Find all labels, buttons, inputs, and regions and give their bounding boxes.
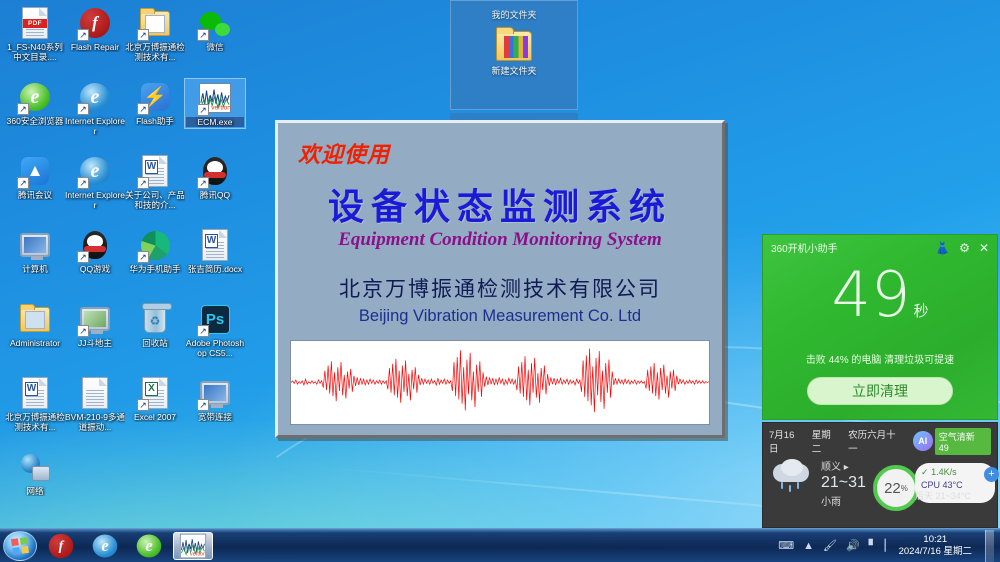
taskbar-item-flash-repair[interactable]: f bbox=[41, 532, 81, 560]
shortcut-arrow-icon bbox=[197, 177, 209, 189]
doc-art bbox=[82, 377, 108, 409]
bin-icon bbox=[138, 302, 172, 336]
boot-time-unit: 秒 bbox=[913, 302, 928, 320]
desktop-icon-11[interactable]: W关于公司、产品和技的介... bbox=[124, 152, 186, 211]
gear-icon[interactable]: ⚙ bbox=[959, 242, 970, 254]
desktop-icon-label: 张吉简历.docx bbox=[185, 264, 245, 274]
network-speed: ✓ 1.4K/s bbox=[921, 467, 989, 478]
weather-system-widget[interactable]: 7月16日 星期二 农历六月十一 AI 空气清新 49 顺义 ▸ 21~31 小… bbox=[762, 422, 998, 528]
flash-icon: f bbox=[78, 6, 112, 40]
user-folder-icon bbox=[18, 302, 52, 336]
weather-lunar: 农历六月十一 bbox=[848, 427, 905, 455]
app-title-english: Equipment Condition Monitoring System bbox=[278, 229, 722, 251]
desktop-icon-label: Administrator bbox=[5, 338, 65, 348]
weather-body: 顺义 ▸ 21~31 小雨 22% ✓ 1.4K/s CPU 43°C + ☼ … bbox=[763, 455, 997, 508]
shortcut-arrow-icon bbox=[137, 177, 149, 189]
word-icon: W bbox=[18, 376, 52, 410]
network-icon bbox=[18, 450, 52, 484]
widget-360-header: 360开机小助手 👗 ⚙ ✕ bbox=[763, 235, 997, 255]
desktop-icon-12[interactable]: 腾讯QQ bbox=[184, 152, 246, 201]
shortcut-arrow-icon bbox=[77, 177, 89, 189]
desktop-icon-9[interactable]: ▲腾讯会议 bbox=[4, 152, 66, 201]
shortcut-arrow-icon bbox=[17, 103, 29, 115]
desktop-icon-24[interactable]: 宽带连接 bbox=[184, 374, 246, 423]
network-art bbox=[21, 454, 50, 481]
add-icon[interactable]: + bbox=[984, 467, 999, 482]
word-icon: W bbox=[138, 154, 172, 188]
desktop-icon-label: 关于公司、产品和技的介... bbox=[125, 190, 185, 210]
air-quality-badge: 空气清新 49 bbox=[935, 428, 991, 455]
weather-temp-range: 21~31 bbox=[821, 474, 866, 492]
shortcut-arrow-icon bbox=[77, 29, 89, 41]
shortcut-arrow-icon bbox=[197, 325, 209, 337]
shirt-icon[interactable]: 👗 bbox=[935, 242, 950, 254]
desktop-icon-7[interactable]: ⚡Flash助手 bbox=[124, 78, 186, 127]
desktop-icon-label: 宽带连接 bbox=[185, 412, 245, 422]
ai-badge[interactable]: AI bbox=[913, 431, 933, 451]
show-hidden-icon[interactable]: ▲ bbox=[803, 540, 814, 552]
ecm-icon: vertion bbox=[198, 81, 232, 115]
boot-time-number: 49 bbox=[832, 258, 911, 331]
weather-condition: 小雨 bbox=[821, 493, 866, 508]
weather-header: 7月16日 星期二 农历六月十一 AI 空气清新 49 bbox=[763, 423, 997, 455]
desktop-icon-19[interactable]: 回收站 bbox=[124, 300, 186, 349]
weather-text-group: 顺义 ▸ 21~31 小雨 bbox=[821, 458, 866, 508]
vibration-waveform-chart bbox=[290, 340, 710, 425]
qq-icon bbox=[78, 228, 112, 262]
word-art: W bbox=[22, 377, 48, 409]
desktop-icon-label: Internet Explorer bbox=[65, 116, 125, 136]
desktop-icon-label: Excel 2007 bbox=[125, 412, 185, 422]
excel-icon: X bbox=[138, 376, 172, 410]
desktop-icon-label: Flash助手 bbox=[125, 116, 185, 126]
taskbar-item-internet-explorer[interactable]: e bbox=[85, 532, 125, 560]
desktop-icon-18[interactable]: JJ斗地主 bbox=[64, 300, 126, 349]
desktop-icon-label: Internet Explorer bbox=[65, 190, 125, 210]
boot-time-subtitle: 击败 44% 的电脑 清理垃圾可提速 bbox=[763, 351, 997, 366]
desktop-icon-label: 1_FS-N40系列中文目录.... bbox=[5, 42, 65, 62]
desktop-icon-17[interactable]: Administrator bbox=[4, 300, 66, 349]
desktop-icon-8[interactable]: vertionECM.exe bbox=[184, 78, 246, 129]
chevron-right-icon: ▸ bbox=[844, 462, 849, 473]
folder-window[interactable]: 我的文件夹 新建文件夹 bbox=[450, 0, 578, 110]
monitor-icon bbox=[198, 376, 232, 410]
weather-weekday: 星期二 bbox=[812, 427, 840, 455]
flash-icon: f bbox=[49, 533, 74, 558]
svg-text:vertion: vertion bbox=[211, 104, 230, 111]
desktop-icon-4[interactable]: 微信 bbox=[184, 4, 246, 53]
desktop-icon-label: ECM.exe bbox=[186, 117, 244, 127]
show-desktop-button[interactable] bbox=[985, 530, 994, 562]
window-icon bbox=[78, 302, 112, 336]
shortcut-arrow-icon bbox=[197, 104, 209, 116]
clock-time: 10:21 bbox=[899, 534, 972, 546]
desktop-icon-23[interactable]: XExcel 2007 bbox=[124, 374, 186, 423]
word-art: W bbox=[202, 229, 228, 261]
monitor-icon bbox=[18, 228, 52, 262]
app-title-chinese: 设备状态监测系统 bbox=[278, 178, 722, 230]
shortcut-arrow-icon bbox=[137, 251, 149, 263]
desktop-icon-label: 北京万博振通检测技术有... bbox=[125, 42, 185, 62]
shortcut-arrow-icon bbox=[77, 103, 89, 115]
ie-green-icon: e bbox=[18, 80, 52, 114]
svg-text:vertion: vertion bbox=[190, 551, 205, 557]
folder-window-title: 我的文件夹 bbox=[450, 0, 578, 21]
desktop-icon-label: Adobe Photoshop CS5... bbox=[185, 338, 245, 358]
desktop-icon-2[interactable]: fFlash Repair bbox=[64, 4, 126, 53]
bolt-icon: ⚡ bbox=[138, 80, 172, 114]
desktop-icon-3[interactable]: 北京万博振通检测技术有... bbox=[124, 4, 186, 63]
ecm-icon: vertion bbox=[180, 533, 206, 558]
ps-icon: Ps bbox=[198, 302, 232, 336]
shortcut-arrow-icon bbox=[197, 29, 209, 41]
weather-forecast: 后天 21~34°C bbox=[915, 489, 971, 502]
360-boot-assistant-widget[interactable]: 360开机小助手 👗 ⚙ ✕ 49秒 击败 44% 的电脑 清理垃圾可提速 立即… bbox=[762, 234, 998, 420]
desktop-icon-14[interactable]: QQ游戏 bbox=[64, 226, 126, 275]
desktop-icon-label: 网络 bbox=[5, 486, 65, 496]
desktop-icon-21[interactable]: W北京万博振通检测技术有... bbox=[4, 374, 66, 433]
bin-art bbox=[144, 306, 166, 333]
desktop-icon-10[interactable]: eInternet Explorer bbox=[64, 152, 126, 211]
desktop-icon-label: 360安全浏览器 bbox=[5, 116, 65, 126]
folder-window-body: 新建文件夹 bbox=[450, 21, 578, 77]
splash-window[interactable]: 欢迎使用 设备状态监测系统 Equipment Condition Monito… bbox=[275, 120, 725, 438]
taskbar-clock[interactable]: 10:21 2024/7/16 星期二 bbox=[895, 534, 976, 558]
taskbar-item-360-browser[interactable]: e bbox=[129, 532, 169, 560]
rain-cloud-icon bbox=[769, 458, 817, 498]
weather-city[interactable]: 顺义 ▸ bbox=[821, 458, 866, 473]
taskbar-item-list: feevertion bbox=[37, 532, 213, 560]
shortcut-arrow-icon bbox=[137, 103, 149, 115]
boot-time-value: 49秒 bbox=[763, 265, 997, 341]
ie-green-icon: e bbox=[137, 534, 162, 557]
desktop-icon-6[interactable]: eInternet Explorer bbox=[64, 78, 126, 137]
company-name-english: Beijing Vibration Measurement Co. Ltd bbox=[278, 307, 722, 326]
user-folder-art bbox=[20, 307, 50, 332]
desktop-icon-label: 华为手机助手 bbox=[125, 264, 185, 274]
desktop-icon-25[interactable]: 网络 bbox=[4, 448, 66, 497]
desktop-icon-label: 回收站 bbox=[125, 338, 185, 348]
shortcut-arrow-icon bbox=[17, 177, 29, 189]
monitor-art bbox=[20, 233, 50, 257]
pdf-art: PDF bbox=[22, 7, 48, 39]
shortcut-arrow-icon bbox=[197, 399, 209, 411]
ie-icon: e bbox=[93, 534, 118, 557]
desktop-icon-label: Flash Repair bbox=[65, 42, 125, 52]
shortcut-arrow-icon bbox=[77, 251, 89, 263]
widget-360-header-icons: 👗 ⚙ ✕ bbox=[935, 242, 989, 254]
waveform-svg bbox=[291, 341, 709, 424]
desktop-icon-1[interactable]: PDF1_FS-N40系列中文目录.... bbox=[4, 4, 66, 63]
doc-icon bbox=[78, 376, 112, 410]
widget-360-title: 360开机小助手 bbox=[771, 240, 935, 255]
desktop-icon-label: 腾讯QQ bbox=[185, 190, 245, 200]
sun-icon: ☼ bbox=[895, 490, 905, 502]
folder-item-label: 新建文件夹 bbox=[491, 64, 536, 77]
desktop-icon-label: 北京万博振通检测技术有... bbox=[5, 412, 65, 432]
close-icon[interactable]: ✕ bbox=[979, 242, 989, 254]
shortcut-arrow-icon bbox=[137, 29, 149, 41]
desktop-icon-label: 微信 bbox=[185, 42, 245, 52]
taskbar: feevertion ⌨ ▲ 🖌 🔊 ▘▕ 10:21 2024/7/16 星期… bbox=[0, 528, 1000, 562]
desktop-icon-label: 腾讯会议 bbox=[5, 190, 65, 200]
keyboard-icon[interactable]: ⌨ bbox=[778, 539, 794, 552]
network-icon[interactable]: ▘▕ bbox=[869, 539, 886, 552]
shortcut-arrow-icon bbox=[137, 399, 149, 411]
folder-icon[interactable] bbox=[496, 31, 532, 61]
desktop-icon-15[interactable]: 华为手机助手 bbox=[124, 226, 186, 275]
desktop-icon-label: JJ斗地主 bbox=[65, 338, 125, 348]
desktop-icon-5[interactable]: e360安全浏览器 bbox=[4, 78, 66, 127]
desktop-icon-20[interactable]: PsAdobe Photoshop CS5... bbox=[184, 300, 246, 359]
volume-icon[interactable]: 🔊 bbox=[846, 539, 860, 552]
desktop-icon-label: QQ游戏 bbox=[65, 264, 125, 274]
aqi-group: AI 空气清新 49 bbox=[913, 428, 991, 455]
splash-inner: 欢迎使用 设备状态监测系统 Equipment Condition Monito… bbox=[278, 123, 722, 435]
system-tray: ⌨ ▲ 🖌 🔊 ▘▕ 10:21 2024/7/16 星期二 bbox=[778, 530, 1000, 562]
qq-icon bbox=[198, 154, 232, 188]
taskbar-item-ecm-app[interactable]: vertion bbox=[173, 532, 213, 560]
welcome-text: 欢迎使用 bbox=[298, 137, 390, 169]
weather-date: 7月16日 bbox=[769, 427, 804, 455]
desktop-icon-16[interactable]: W张吉简历.docx bbox=[184, 226, 246, 275]
desktop-icon-22[interactable]: BVM-210-9多通道振动... bbox=[64, 374, 126, 433]
tmeet-icon: ▲ bbox=[18, 154, 52, 188]
word-icon: W bbox=[198, 228, 232, 262]
start-button[interactable] bbox=[3, 531, 37, 561]
desktop-icon-13[interactable]: 计算机 bbox=[4, 226, 66, 275]
action-center-icon[interactable]: 🖌 bbox=[823, 539, 837, 552]
clock-date: 2024/7/16 星期二 bbox=[899, 546, 972, 558]
wechat-icon bbox=[198, 6, 232, 40]
windows-logo-icon bbox=[11, 536, 29, 554]
folder-icon bbox=[138, 6, 172, 40]
check-icon: ✓ bbox=[921, 467, 929, 477]
desktop-icon-label: BVM-210-9多通道振动... bbox=[65, 412, 125, 432]
clean-now-button[interactable]: 立即清理 bbox=[807, 377, 953, 405]
shortcut-arrow-icon bbox=[77, 325, 89, 337]
cpu-usage-ring[interactable]: 22% bbox=[873, 465, 919, 511]
company-name-chinese: 北京万博振通检测技术有限公司 bbox=[278, 273, 722, 303]
desktop-icon-label: 计算机 bbox=[5, 264, 65, 274]
ie-icon: e bbox=[78, 80, 112, 114]
pdf-icon: PDF bbox=[18, 6, 52, 40]
huawei-icon bbox=[138, 228, 172, 262]
ie-icon: e bbox=[78, 154, 112, 188]
